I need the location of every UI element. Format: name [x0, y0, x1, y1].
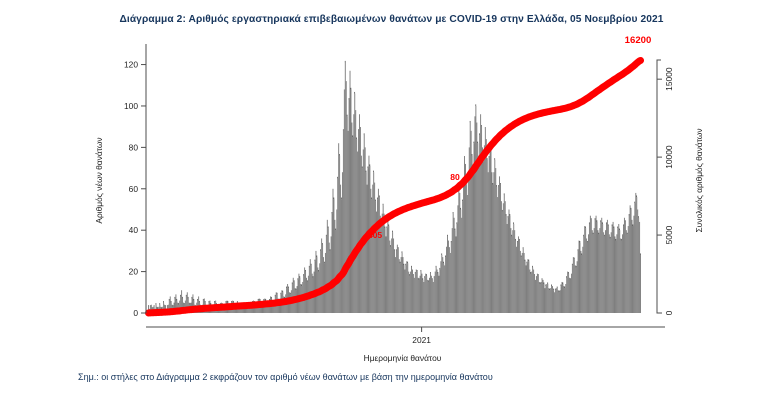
bar — [578, 251, 579, 313]
axes-group: 020406080100120Αριθμός νέων θανάτων2021Η… — [94, 44, 704, 363]
bar-value-label — [559, 291, 560, 293]
bar — [448, 241, 449, 313]
bar — [597, 222, 598, 313]
bar — [335, 230, 336, 313]
cumulative-midpoint-1: 405 — [368, 230, 383, 240]
bar — [593, 234, 594, 313]
bar — [575, 265, 576, 313]
bar — [597, 230, 598, 313]
bar-value-label — [470, 121, 471, 123]
bar-value-label — [373, 171, 374, 173]
bar-value-label — [383, 204, 384, 206]
bar — [346, 81, 347, 313]
bar — [619, 230, 620, 313]
bar — [351, 123, 352, 313]
bar — [446, 247, 447, 313]
bar — [412, 270, 413, 313]
bar — [504, 195, 505, 313]
bar-value-label — [165, 305, 166, 307]
bar — [439, 270, 440, 313]
bar — [471, 131, 472, 313]
bar — [475, 106, 476, 313]
bar — [404, 270, 405, 313]
bar-value-label — [428, 280, 429, 282]
bar — [422, 280, 423, 313]
bar-value-label — [525, 260, 526, 262]
bar-value-label — [167, 305, 168, 307]
bar-value-label — [360, 127, 361, 129]
bar — [406, 261, 407, 313]
bar — [609, 234, 610, 313]
bar — [571, 274, 572, 313]
bar-value-label — [481, 125, 482, 127]
bar-value-label — [403, 264, 404, 266]
bar — [618, 224, 619, 313]
bar-value-label — [265, 299, 266, 301]
bar-value-label — [154, 305, 155, 307]
bar — [353, 114, 354, 313]
bar — [415, 274, 416, 313]
bar — [311, 265, 312, 313]
bar-value-label — [417, 270, 418, 272]
bar — [506, 216, 507, 313]
bar — [338, 143, 339, 313]
bar-value-label — [227, 301, 228, 303]
bar — [245, 309, 246, 313]
bar — [523, 249, 524, 313]
bar-value-label — [294, 280, 295, 282]
bar-value-label — [542, 278, 543, 280]
bar-value-label — [472, 154, 473, 156]
bar — [354, 94, 355, 313]
bar — [371, 199, 372, 313]
bar — [364, 135, 365, 313]
bar-value-label — [237, 301, 238, 303]
bar-value-label — [398, 247, 399, 249]
bar — [530, 274, 531, 313]
bar — [393, 238, 394, 313]
bar — [468, 174, 469, 313]
bar — [351, 89, 352, 313]
bar — [339, 156, 340, 313]
bar-value-label — [509, 214, 510, 216]
bar — [426, 276, 427, 313]
bar-value-label — [530, 272, 531, 274]
bar-value-label — [424, 276, 425, 278]
bar — [586, 238, 587, 313]
bar-value-label — [625, 220, 626, 222]
bar — [634, 203, 635, 313]
right-axis-line — [657, 60, 661, 313]
footnote: Σημ.: οι στήλες στο Διάγραμμα 2 εκφράζου… — [78, 372, 738, 382]
bar-value-label — [430, 272, 431, 274]
bar — [536, 278, 537, 313]
bar-value-label — [152, 307, 153, 309]
bar — [551, 286, 552, 313]
bar — [579, 243, 580, 313]
bar-value-label — [602, 222, 603, 224]
bar — [478, 156, 479, 313]
bar-value-label — [513, 222, 514, 224]
bar — [480, 114, 481, 313]
bar — [315, 251, 316, 313]
bar — [566, 278, 567, 313]
bar-series — [148, 61, 641, 313]
bar — [433, 282, 434, 313]
left-axis-tick-label: 80 — [129, 142, 139, 152]
bar — [326, 236, 327, 313]
bar — [370, 189, 371, 313]
bar-value-label — [617, 227, 618, 229]
bar — [461, 218, 462, 313]
bar — [592, 230, 593, 313]
bar — [608, 226, 609, 313]
bar — [626, 230, 627, 313]
left-axis-tick-label: 120 — [124, 60, 138, 70]
bar — [460, 209, 461, 313]
bar — [503, 203, 504, 313]
bar-value-label — [271, 297, 272, 299]
bar-value-label — [564, 287, 565, 289]
bar-value-label — [608, 224, 609, 226]
bar-value-label — [447, 235, 448, 237]
bar — [500, 185, 501, 313]
bar — [547, 284, 548, 313]
bar — [596, 216, 597, 313]
bar — [510, 228, 511, 313]
bar-value-label — [426, 274, 427, 276]
bar — [632, 220, 633, 313]
bar-value-label — [536, 276, 537, 278]
bar — [322, 245, 323, 313]
bar-value-label — [561, 284, 562, 286]
bar-value-label — [309, 266, 310, 268]
bar — [579, 241, 580, 313]
bar-value-label — [460, 208, 461, 210]
bar — [565, 284, 566, 313]
bar-value-label — [352, 135, 353, 137]
bar — [333, 189, 334, 313]
bar — [405, 265, 406, 313]
bar — [410, 272, 411, 313]
bar — [423, 282, 424, 313]
bar-value-label — [441, 253, 442, 255]
bar — [361, 156, 362, 313]
bar — [413, 276, 414, 313]
bar-value-label — [315, 260, 316, 262]
bar — [407, 263, 408, 313]
bar-value-label — [298, 278, 299, 280]
bar — [605, 230, 606, 313]
bar — [544, 284, 545, 313]
bar — [489, 158, 490, 313]
bar-value-label — [305, 270, 306, 272]
bar-value-label — [328, 227, 329, 229]
bar — [534, 276, 535, 313]
bar — [310, 259, 311, 313]
bar — [491, 152, 492, 313]
chart-page: Διάγραμμα 2: Αριθμός εργαστηριακά επιβεβ… — [0, 0, 783, 401]
bar — [454, 218, 455, 313]
bar-value-label — [456, 222, 457, 224]
left-axis-tick-label: 0 — [133, 308, 138, 318]
bar — [352, 137, 353, 313]
left-axis-tick-label: 60 — [129, 184, 139, 194]
bar — [449, 249, 450, 313]
bar — [329, 243, 330, 313]
bar-value-label — [186, 295, 187, 297]
bar — [348, 131, 349, 313]
bar-value-label — [515, 239, 516, 241]
bar-value-label — [159, 303, 160, 305]
bar — [356, 139, 357, 313]
bar — [640, 255, 641, 313]
bar — [431, 276, 432, 313]
bar — [373, 172, 374, 313]
bar-value-label — [572, 264, 573, 266]
bar — [377, 199, 378, 313]
bar — [539, 282, 540, 313]
bar — [544, 288, 545, 313]
bar-value-label — [356, 137, 357, 139]
bar-value-label — [394, 249, 395, 251]
bar — [465, 164, 466, 313]
bar-value-label — [349, 98, 350, 100]
bar — [305, 272, 306, 313]
bar — [591, 220, 592, 313]
bar — [435, 272, 436, 313]
bar — [520, 251, 521, 313]
bar — [550, 288, 551, 313]
right-axis-tick-label: 15000 — [664, 67, 674, 91]
bar-value-label — [477, 142, 478, 144]
bar — [452, 228, 453, 313]
bar — [600, 222, 601, 313]
bar — [321, 238, 322, 313]
bar — [554, 292, 555, 313]
bar-value-label — [324, 262, 325, 264]
bar — [560, 290, 561, 313]
bar-value-label — [504, 193, 505, 195]
bar — [564, 288, 565, 313]
bar — [414, 278, 415, 313]
bar — [334, 220, 335, 313]
bar-value-label — [632, 224, 633, 226]
bar-value-label — [288, 287, 289, 289]
bar-value-label — [362, 166, 363, 168]
bar — [540, 284, 541, 313]
bar — [612, 226, 613, 313]
bar — [342, 172, 343, 313]
bar-value-label — [581, 253, 582, 255]
bar — [340, 185, 341, 313]
bar-value-label — [640, 253, 641, 255]
bar-value-label — [199, 301, 200, 303]
bar — [553, 290, 554, 313]
chart-svg: 020406080100120Αριθμός νέων θανάτων2021Η… — [0, 0, 783, 401]
bar — [558, 290, 559, 313]
bar-value-label — [585, 227, 586, 229]
bar — [541, 282, 542, 313]
bar-value-label — [358, 129, 359, 131]
bar — [509, 216, 510, 313]
bar-value-label — [636, 195, 637, 197]
bar-value-label — [579, 241, 580, 243]
bar — [603, 232, 604, 313]
bar — [580, 251, 581, 313]
bar — [344, 89, 345, 313]
bar-value-label — [527, 262, 528, 264]
bar — [425, 274, 426, 313]
bar-value-label — [371, 198, 372, 200]
bar — [490, 143, 491, 313]
bar — [521, 257, 522, 313]
bar — [395, 257, 396, 313]
bar — [459, 193, 460, 313]
bottom-axis-tick-label: 2021 — [412, 335, 431, 345]
right-axis-title: Συνολικός αριθμός θανάτων — [694, 128, 704, 232]
bar-value-label — [496, 185, 497, 187]
bar — [487, 160, 488, 313]
bar — [496, 187, 497, 313]
bar-value-label — [492, 183, 493, 185]
bar — [637, 209, 638, 313]
bar — [572, 265, 573, 313]
bar — [388, 226, 389, 313]
bar — [430, 274, 431, 313]
bar-value-label — [347, 115, 348, 117]
bar — [463, 178, 464, 313]
bar — [599, 228, 600, 313]
bar-value-label — [299, 276, 300, 278]
bar-value-label — [562, 282, 563, 284]
bar-value-label — [619, 229, 620, 231]
bar-value-label — [494, 158, 495, 160]
bar — [516, 247, 517, 313]
bar — [549, 290, 550, 313]
bar-value-label — [290, 293, 291, 295]
bar — [467, 195, 468, 313]
bar — [611, 232, 612, 313]
bar-value-label — [479, 133, 480, 135]
bar — [455, 230, 456, 313]
bar — [386, 228, 387, 313]
bar — [595, 220, 596, 313]
bar — [517, 243, 518, 313]
bar — [387, 220, 388, 313]
bar — [420, 276, 421, 313]
bar — [450, 253, 451, 313]
bar — [482, 147, 483, 313]
bar — [508, 218, 509, 313]
bar-value-label — [313, 276, 314, 278]
bar — [567, 272, 568, 313]
bar-value-label — [583, 235, 584, 237]
bar — [628, 226, 629, 313]
bar — [493, 172, 494, 313]
chart-plot-area: 020406080100120Αριθμός νέων θανάτων2021Η… — [0, 0, 783, 401]
bar — [570, 280, 571, 313]
bar-value-label — [226, 301, 227, 303]
bar-value-label — [413, 274, 414, 276]
bar — [451, 243, 452, 313]
bar-value-label — [178, 303, 179, 305]
bar-value-label — [209, 301, 210, 303]
bar-value-label — [193, 299, 194, 301]
bar-value-label — [368, 166, 369, 168]
bar — [365, 147, 366, 313]
bar-value-label — [301, 284, 302, 286]
bar — [601, 218, 602, 313]
bar — [545, 286, 546, 313]
right-axis-tick-label: 5000 — [664, 225, 674, 244]
bar-value-label — [411, 266, 412, 268]
bar-value-label — [377, 198, 378, 200]
bar-value-label — [487, 158, 488, 160]
bar-value-label — [182, 297, 183, 299]
bar — [315, 261, 316, 313]
bar — [382, 214, 383, 313]
left-axis-tick-label: 20 — [129, 267, 139, 277]
bar — [501, 201, 502, 313]
bar-value-label — [528, 260, 529, 262]
bar-value-label — [627, 233, 628, 235]
bar-value-label — [231, 301, 232, 303]
bar — [615, 236, 616, 313]
bar — [498, 187, 499, 313]
bar — [629, 216, 630, 313]
bar-value-label — [171, 301, 172, 303]
bar-value-label — [286, 287, 287, 289]
bar — [402, 253, 403, 313]
bar — [391, 238, 392, 313]
bar-value-label — [464, 156, 465, 158]
bar — [602, 224, 603, 313]
bar — [590, 216, 591, 313]
bar — [562, 282, 563, 313]
bar-value-label — [545, 284, 546, 286]
bar — [372, 185, 373, 313]
bar — [630, 205, 631, 313]
bar-value-label — [436, 266, 437, 268]
bar — [617, 228, 618, 313]
bar-value-label — [405, 264, 406, 266]
bar — [562, 284, 563, 313]
bar — [527, 259, 528, 313]
bar — [543, 280, 544, 313]
bar — [390, 247, 391, 313]
bar-value-label — [443, 262, 444, 264]
bar-value-label — [631, 208, 632, 210]
bar — [419, 280, 420, 313]
bar — [429, 278, 430, 313]
bar — [610, 238, 611, 313]
bar — [499, 176, 500, 313]
bar — [359, 114, 360, 313]
bar — [421, 272, 422, 313]
bar-value-label — [330, 249, 331, 251]
bar — [527, 263, 528, 313]
bar-value-label — [553, 289, 554, 291]
bar-value-label — [523, 247, 524, 249]
bar-value-label — [190, 303, 191, 305]
bar — [495, 168, 496, 313]
bar — [439, 276, 440, 313]
right-axis-tick-label: 10000 — [664, 145, 674, 169]
bar-value-label — [506, 214, 507, 216]
bar-value-label — [396, 249, 397, 251]
bar — [456, 236, 457, 313]
